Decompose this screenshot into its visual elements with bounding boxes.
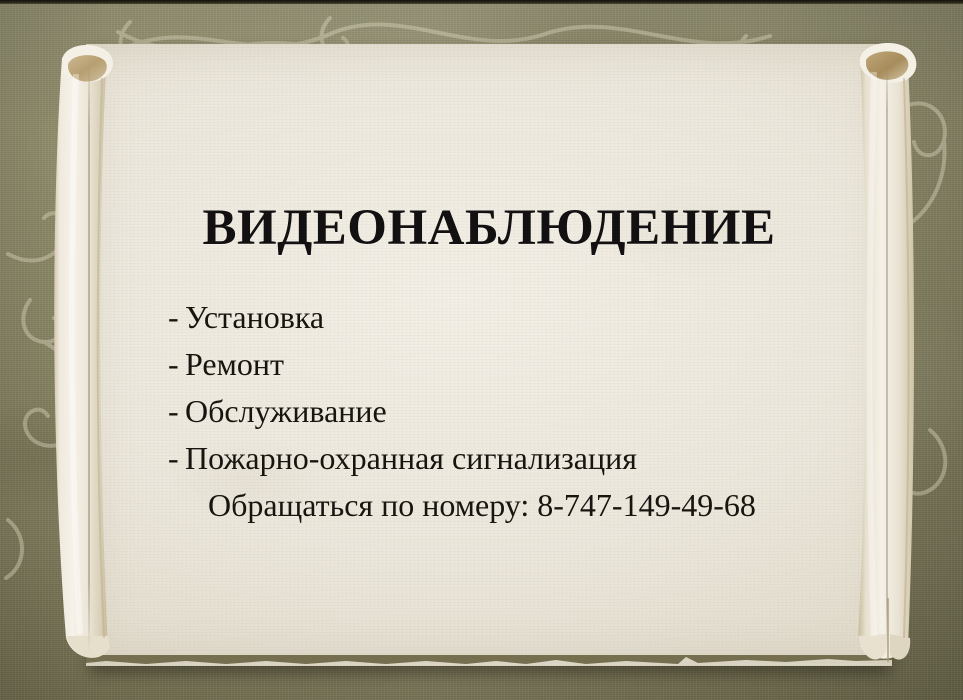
list-item-label: Установка [185,299,324,335]
services-list: -Установка -Ремонт -Обслуживание -Пожарн… [168,294,888,529]
list-item: -Обслуживание [168,388,888,435]
list-item: -Ремонт [168,341,888,388]
parchment-scroll: ВИДЕОНАБЛЮДЕНИЕ -Установка -Ремонт -Обсл… [46,28,924,668]
contact-phone-line: Обращаться по номеру: 8-747-149-49-68 [168,482,888,529]
dash-bullet-icon: - [168,388,185,435]
poster-canvas: ВИДЕОНАБЛЮДЕНИЕ -Установка -Ремонт -Обсл… [0,0,963,700]
dash-bullet-icon: - [168,294,185,341]
list-item: -Установка [168,294,888,341]
top-edge-strip [0,0,963,4]
dash-bullet-icon: - [168,341,185,388]
list-item: -Пожарно-охранная сигнализация [168,435,888,482]
list-item-label: Ремонт [185,346,284,382]
dash-bullet-icon: - [168,435,185,482]
poster-content: ВИДЕОНАБЛЮДЕНИЕ -Установка -Ремонт -Обсл… [86,44,892,666]
page-title: ВИДЕОНАБЛЮДЕНИЕ [86,199,892,257]
list-item-label: Пожарно-охранная сигнализация [185,440,637,476]
list-item-label: Обслуживание [185,393,387,429]
